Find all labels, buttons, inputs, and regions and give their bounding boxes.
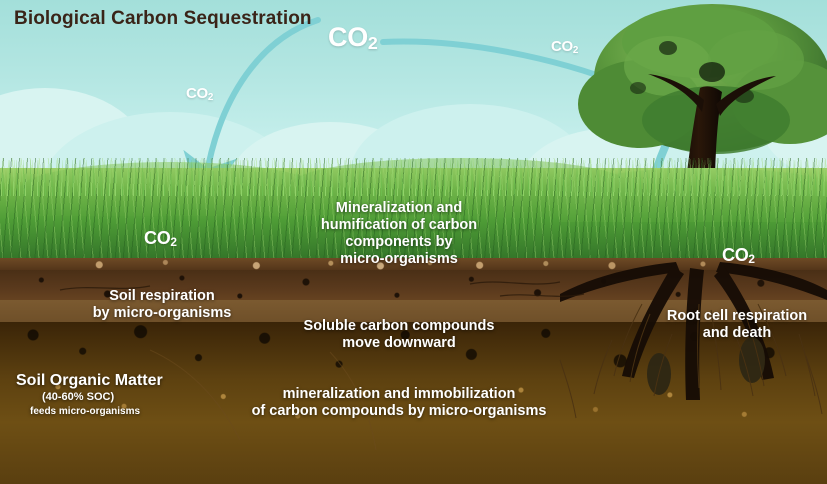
co2-text: CO: [328, 22, 368, 52]
co2-label-sky-main: CO2: [328, 22, 378, 53]
co2-label-near-tree: CO2: [551, 38, 578, 55]
soil-organic-matter-note: feeds micro-organisms: [30, 406, 140, 417]
co2-text: CO: [551, 38, 573, 55]
co2-subscript: 2: [573, 45, 578, 56]
co2-subscript: 2: [368, 33, 378, 53]
co2-subscript: 2: [170, 235, 176, 249]
co2-label-soil-respiration: CO2: [144, 228, 177, 249]
caption-soil-respiration: Soil respiration by micro-organisms: [78, 288, 246, 322]
soil-organic-matter-title: Soil Organic Matter: [16, 372, 163, 390]
soil-organic-matter-subtitle: (40-60% SOC): [42, 391, 114, 403]
caption-soluble-carbon: Soluble carbon compounds move downward: [288, 318, 510, 352]
co2-text: CO: [186, 85, 208, 102]
caption-mineralization-immobilization: mineralization and immobilization of car…: [236, 386, 562, 420]
co2-text: CO: [722, 245, 748, 265]
co2-subscript: 2: [208, 92, 213, 103]
co2-subscript: 2: [748, 252, 754, 266]
page-title: Biological Carbon Sequestration: [14, 8, 312, 30]
caption-root-cell-respiration: Root cell respiration and death: [652, 308, 822, 342]
grass-tips: [0, 160, 827, 196]
co2-text: CO: [144, 228, 170, 248]
caption-mineralization-humification: Mineralization and humification of carbo…: [318, 200, 480, 268]
co2-label-sky-left: CO2: [186, 85, 213, 102]
infographic-canvas: Biological Carbon Sequestration CO2 CO2 …: [0, 0, 827, 484]
co2-label-root-respiration: CO2: [722, 245, 755, 266]
